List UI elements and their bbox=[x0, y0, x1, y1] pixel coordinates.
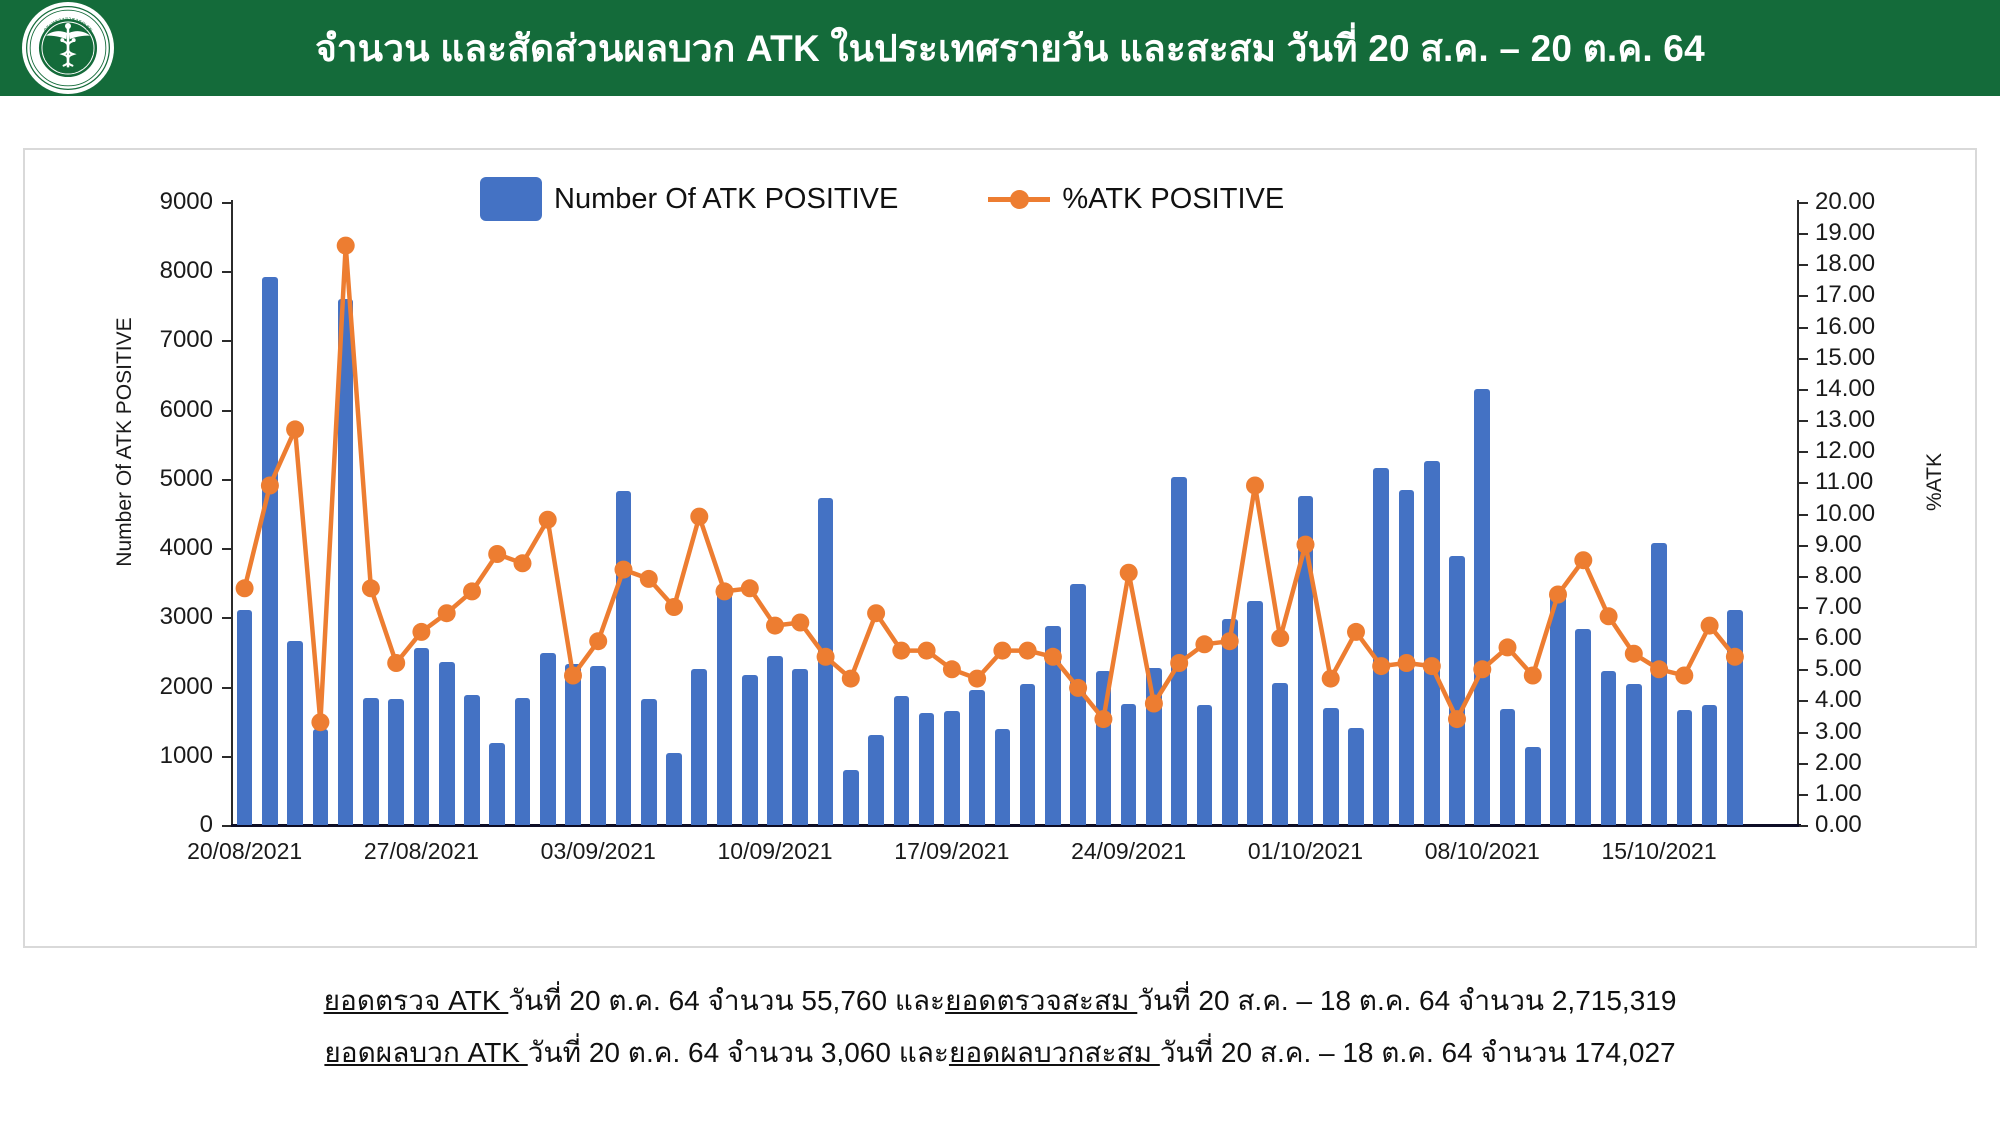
line-marker-24-08-2021 bbox=[337, 237, 355, 255]
bar-22-09-2021 bbox=[1070, 584, 1086, 825]
bar-28-09-2021 bbox=[1222, 619, 1238, 825]
bar-08-09-2021 bbox=[717, 590, 733, 825]
bar-28-08-2021 bbox=[439, 662, 455, 825]
footer-line1-cum-value: วันที่ 20 ส.ค. – 18 ต.ค. 64 จำนวน 2,715,… bbox=[1137, 985, 1676, 1016]
bar-07-09-2021 bbox=[691, 669, 707, 825]
y-tick-label-right-20.00: 20.00 bbox=[1815, 188, 1875, 216]
line-marker-24-09-2021 bbox=[1120, 564, 1138, 582]
x-tick-label-17-09-2021: 17/09/2021 bbox=[894, 838, 1009, 865]
line-marker-31-08-2021 bbox=[514, 554, 532, 572]
y-tick-right-5.00 bbox=[1799, 669, 1808, 671]
y-tick-label-left-9000: 9000 bbox=[160, 188, 213, 216]
x-tick-label-10-09-2021: 10/09/2021 bbox=[717, 838, 832, 865]
x-tick-label-08-10-2021: 08/10/2021 bbox=[1425, 838, 1540, 865]
line-marker-14-10-2021 bbox=[1625, 645, 1643, 663]
footer-line2-cum-value: วันที่ 20 ส.ค. – 18 ต.ค. 64 จำนวน 174,02… bbox=[1160, 1037, 1676, 1068]
y-tick-left-0 bbox=[222, 825, 231, 827]
y-tick-label-left-5000: 5000 bbox=[160, 465, 213, 493]
line-marker-20-09-2021 bbox=[1019, 642, 1037, 660]
y-tick-right-1.00 bbox=[1799, 794, 1808, 796]
bar-24-08-2021 bbox=[338, 299, 354, 825]
line-marker-26-08-2021 bbox=[387, 654, 405, 672]
bar-01-09-2021 bbox=[540, 653, 556, 825]
line-marker-30-08-2021 bbox=[488, 545, 506, 563]
line-marker-11-09-2021 bbox=[791, 614, 809, 632]
bar-31-08-2021 bbox=[515, 698, 531, 825]
y-tick-left-3000 bbox=[222, 617, 231, 619]
y-tick-label-right-10.00: 10.00 bbox=[1815, 500, 1875, 528]
line-marker-16-09-2021 bbox=[918, 642, 936, 660]
line-marker-13-09-2021 bbox=[842, 670, 860, 688]
y-tick-label-right-2.00: 2.00 bbox=[1815, 749, 1862, 777]
bar-18-09-2021 bbox=[969, 690, 985, 825]
bar-02-09-2021 bbox=[565, 664, 581, 825]
bar-21-09-2021 bbox=[1045, 626, 1061, 825]
y-tick-right-19.00 bbox=[1799, 233, 1808, 235]
bar-15-09-2021 bbox=[894, 696, 910, 825]
y-tick-label-right-19.00: 19.00 bbox=[1815, 219, 1875, 247]
footer-line2-value: วันที่ 20 ต.ค. 64 จำนวน 3,060 และ bbox=[528, 1037, 949, 1068]
y-tick-right-0.00 bbox=[1799, 825, 1808, 827]
bar-27-08-2021 bbox=[414, 648, 430, 825]
header-banner: กระทรวงสาธารณสุข MINISTRY OF PUBLIC HEAL… bbox=[0, 0, 2000, 96]
line-marker-29-08-2021 bbox=[463, 582, 481, 600]
bar-16-09-2021 bbox=[919, 713, 935, 825]
line-marker-03-09-2021 bbox=[589, 632, 607, 650]
bar-24-09-2021 bbox=[1121, 704, 1137, 825]
y-tick-right-6.00 bbox=[1799, 638, 1808, 640]
chart-container: Number Of ATK POSITIVE %ATK POSITIVE Num… bbox=[23, 148, 1977, 948]
line-marker-10-10-2021 bbox=[1524, 667, 1542, 685]
bar-07-10-2021 bbox=[1449, 556, 1465, 825]
y-tick-label-right-16.00: 16.00 bbox=[1815, 313, 1875, 341]
bar-15-10-2021 bbox=[1651, 543, 1667, 825]
y-tick-label-right-8.00: 8.00 bbox=[1815, 562, 1862, 590]
x-tick-label-01-10-2021: 01/10/2021 bbox=[1248, 838, 1363, 865]
bar-25-08-2021 bbox=[363, 698, 379, 825]
line-marker-17-09-2021 bbox=[943, 660, 961, 678]
y-tick-left-5000 bbox=[222, 479, 231, 481]
line-marker-20-08-2021 bbox=[236, 579, 254, 597]
y-tick-label-right-4.00: 4.00 bbox=[1815, 686, 1862, 714]
moph-seal-logo: กระทรวงสาธารณสุข MINISTRY OF PUBLIC HEAL… bbox=[22, 2, 114, 94]
y-tick-label-right-0.00: 0.00 bbox=[1815, 811, 1862, 839]
bar-05-09-2021 bbox=[641, 699, 657, 825]
line-marker-17-10-2021 bbox=[1701, 617, 1719, 635]
y-tick-label-right-7.00: 7.00 bbox=[1815, 593, 1862, 621]
y-tick-label-left-8000: 8000 bbox=[160, 257, 213, 285]
bar-14-09-2021 bbox=[868, 735, 884, 825]
line-marker-15-09-2021 bbox=[892, 642, 910, 660]
line-marker-12-10-2021 bbox=[1574, 551, 1592, 569]
line-marker-29-09-2021 bbox=[1246, 477, 1264, 495]
bar-30-09-2021 bbox=[1272, 683, 1288, 825]
line-marker-10-09-2021 bbox=[766, 617, 784, 635]
y-axis-title-right: %ATK bbox=[1923, 402, 1947, 562]
y-tick-label-right-3.00: 3.00 bbox=[1815, 718, 1862, 746]
y-tick-right-20.00 bbox=[1799, 202, 1808, 204]
bar-29-08-2021 bbox=[464, 695, 480, 825]
bar-26-08-2021 bbox=[388, 699, 404, 825]
line-marker-03-10-2021 bbox=[1347, 623, 1365, 641]
y-tick-right-18.00 bbox=[1799, 264, 1808, 266]
y-tick-right-10.00 bbox=[1799, 514, 1808, 516]
footer-line1-cum-label: ยอดตรวจสะสม bbox=[945, 985, 1137, 1016]
footer-line2-cum-label: ยอดผลบวกสะสม bbox=[949, 1037, 1160, 1068]
bar-01-10-2021 bbox=[1298, 496, 1314, 825]
y-tick-label-right-15.00: 15.00 bbox=[1815, 344, 1875, 372]
bar-03-10-2021 bbox=[1348, 728, 1364, 825]
y-tick-right-3.00 bbox=[1799, 732, 1808, 734]
line-marker-09-09-2021 bbox=[741, 579, 759, 597]
line-marker-09-10-2021 bbox=[1499, 638, 1517, 656]
x-tick-label-15-10-2021: 15/10/2021 bbox=[1602, 838, 1717, 865]
bar-09-09-2021 bbox=[742, 675, 758, 825]
y-tick-left-8000 bbox=[222, 271, 231, 273]
line-marker-14-09-2021 bbox=[867, 604, 885, 622]
y-tick-right-14.00 bbox=[1799, 389, 1808, 391]
bar-12-10-2021 bbox=[1575, 629, 1591, 825]
line-marker-25-08-2021 bbox=[362, 579, 380, 597]
bar-22-08-2021 bbox=[287, 641, 303, 825]
y-tick-right-2.00 bbox=[1799, 763, 1808, 765]
bar-05-10-2021 bbox=[1399, 490, 1415, 825]
line-marker-18-09-2021 bbox=[968, 670, 986, 688]
line-marker-27-09-2021 bbox=[1195, 635, 1213, 653]
bar-14-10-2021 bbox=[1626, 684, 1642, 825]
y-tick-label-left-4000: 4000 bbox=[160, 534, 213, 562]
y-tick-right-17.00 bbox=[1799, 295, 1808, 297]
y-tick-label-left-3000: 3000 bbox=[160, 603, 213, 631]
y-tick-label-right-14.00: 14.00 bbox=[1815, 375, 1875, 403]
y-tick-label-right-11.00: 11.00 bbox=[1815, 468, 1873, 496]
y-tick-label-right-18.00: 18.00 bbox=[1815, 250, 1875, 278]
line-marker-27-08-2021 bbox=[412, 623, 430, 641]
y-tick-right-13.00 bbox=[1799, 420, 1808, 422]
y-tick-label-left-2000: 2000 bbox=[160, 673, 213, 701]
bar-06-09-2021 bbox=[666, 753, 682, 825]
bar-10-09-2021 bbox=[767, 656, 783, 825]
line-marker-06-09-2021 bbox=[665, 598, 683, 616]
y-tick-right-7.00 bbox=[1799, 607, 1808, 609]
y-tick-right-16.00 bbox=[1799, 327, 1808, 329]
line-marker-01-09-2021 bbox=[539, 511, 557, 529]
bar-17-09-2021 bbox=[944, 711, 960, 825]
y-tick-left-4000 bbox=[222, 548, 231, 550]
bar-23-08-2021 bbox=[313, 729, 329, 825]
x-tick-label-20-08-2021: 20/08/2021 bbox=[187, 838, 302, 865]
y-tick-label-left-7000: 7000 bbox=[160, 326, 213, 354]
bar-25-09-2021 bbox=[1146, 668, 1162, 825]
bar-10-10-2021 bbox=[1525, 747, 1541, 825]
bar-13-09-2021 bbox=[843, 770, 859, 825]
y-tick-label-right-6.00: 6.00 bbox=[1815, 624, 1862, 652]
bar-13-10-2021 bbox=[1601, 671, 1617, 825]
y-tick-label-right-13.00: 13.00 bbox=[1815, 406, 1875, 434]
y-tick-left-9000 bbox=[222, 202, 231, 204]
footer-summary: ยอดตรวจ ATK วันที่ 20 ต.ค. 64 จำนวน 55,7… bbox=[0, 975, 2000, 1079]
y-tick-right-11.00 bbox=[1799, 482, 1808, 484]
y-tick-label-left-0: 0 bbox=[200, 811, 213, 839]
bar-12-09-2021 bbox=[818, 498, 834, 825]
y-tick-label-right-1.00: 1.00 bbox=[1815, 780, 1862, 808]
y-tick-label-right-12.00: 12.00 bbox=[1815, 437, 1875, 465]
bar-23-09-2021 bbox=[1096, 671, 1112, 825]
percent-atk-line bbox=[245, 246, 1735, 723]
bar-20-09-2021 bbox=[1020, 684, 1036, 825]
x-tick-label-24-09-2021: 24/09/2021 bbox=[1071, 838, 1186, 865]
y-tick-left-6000 bbox=[222, 410, 231, 412]
footer-line1-label: ยอดตรวจ ATK bbox=[324, 985, 509, 1016]
bar-02-10-2021 bbox=[1323, 708, 1339, 825]
bar-19-09-2021 bbox=[995, 729, 1011, 825]
y-tick-left-7000 bbox=[222, 340, 231, 342]
moph-seal-icon: กระทรวงสาธารณสุข MINISTRY OF PUBLIC HEAL… bbox=[24, 4, 112, 92]
bar-18-10-2021 bbox=[1727, 610, 1743, 825]
bar-17-10-2021 bbox=[1702, 705, 1718, 825]
line-marker-05-09-2021 bbox=[640, 570, 658, 588]
bar-04-09-2021 bbox=[616, 491, 632, 825]
bar-20-08-2021 bbox=[237, 610, 253, 825]
bar-11-10-2021 bbox=[1550, 592, 1566, 825]
bar-29-09-2021 bbox=[1247, 601, 1263, 825]
bar-08-10-2021 bbox=[1474, 389, 1490, 825]
bar-04-10-2021 bbox=[1373, 468, 1389, 825]
x-tick-label-27-08-2021: 27/08/2021 bbox=[364, 838, 479, 865]
line-marker-07-09-2021 bbox=[690, 508, 708, 526]
line-marker-30-09-2021 bbox=[1271, 629, 1289, 647]
y-tick-right-8.00 bbox=[1799, 576, 1808, 578]
bar-27-09-2021 bbox=[1197, 705, 1213, 825]
line-marker-13-10-2021 bbox=[1600, 607, 1618, 625]
footer-line2-label: ยอดผลบวก ATK bbox=[324, 1037, 527, 1068]
plot-area bbox=[232, 202, 1798, 825]
line-marker-16-10-2021 bbox=[1675, 667, 1693, 685]
bar-21-08-2021 bbox=[262, 277, 278, 825]
bar-06-10-2021 bbox=[1424, 461, 1440, 825]
bar-11-09-2021 bbox=[792, 669, 808, 825]
bar-09-10-2021 bbox=[1500, 709, 1516, 825]
footer-line-2: ยอดผลบวก ATK วันที่ 20 ต.ค. 64 จำนวน 3,0… bbox=[0, 1027, 2000, 1079]
y-tick-label-right-9.00: 9.00 bbox=[1815, 531, 1862, 559]
x-tick-label-03-09-2021: 03/09/2021 bbox=[541, 838, 656, 865]
line-marker-28-08-2021 bbox=[438, 604, 456, 622]
footer-line-1: ยอดตรวจ ATK วันที่ 20 ต.ค. 64 จำนวน 55,7… bbox=[0, 975, 2000, 1027]
y-tick-label-left-1000: 1000 bbox=[160, 742, 213, 770]
page-title: จำนวน และสัดส่วนผลบวก ATK ในประเทศรายวัน… bbox=[0, 19, 2000, 78]
y-tick-right-4.00 bbox=[1799, 700, 1808, 702]
bar-16-10-2021 bbox=[1677, 710, 1693, 825]
y-tick-left-2000 bbox=[222, 687, 231, 689]
y-tick-right-12.00 bbox=[1799, 451, 1808, 453]
line-marker-19-09-2021 bbox=[993, 642, 1011, 660]
y-tick-left-1000 bbox=[222, 756, 231, 758]
line-marker-02-10-2021 bbox=[1322, 670, 1340, 688]
y-tick-right-9.00 bbox=[1799, 545, 1808, 547]
y-tick-label-right-5.00: 5.00 bbox=[1815, 655, 1862, 683]
line-marker-22-08-2021 bbox=[286, 420, 304, 438]
y-tick-right-15.00 bbox=[1799, 358, 1808, 360]
y-tick-label-left-6000: 6000 bbox=[160, 396, 213, 424]
y-axis-title-left: Number Of ATK POSITIVE bbox=[113, 292, 137, 592]
bar-26-09-2021 bbox=[1171, 477, 1187, 825]
footer-line1-value: วันที่ 20 ต.ค. 64 จำนวน 55,760 และ bbox=[508, 985, 945, 1016]
bar-03-09-2021 bbox=[590, 666, 606, 825]
bar-30-08-2021 bbox=[489, 743, 505, 825]
y-tick-label-right-17.00: 17.00 bbox=[1815, 281, 1875, 309]
